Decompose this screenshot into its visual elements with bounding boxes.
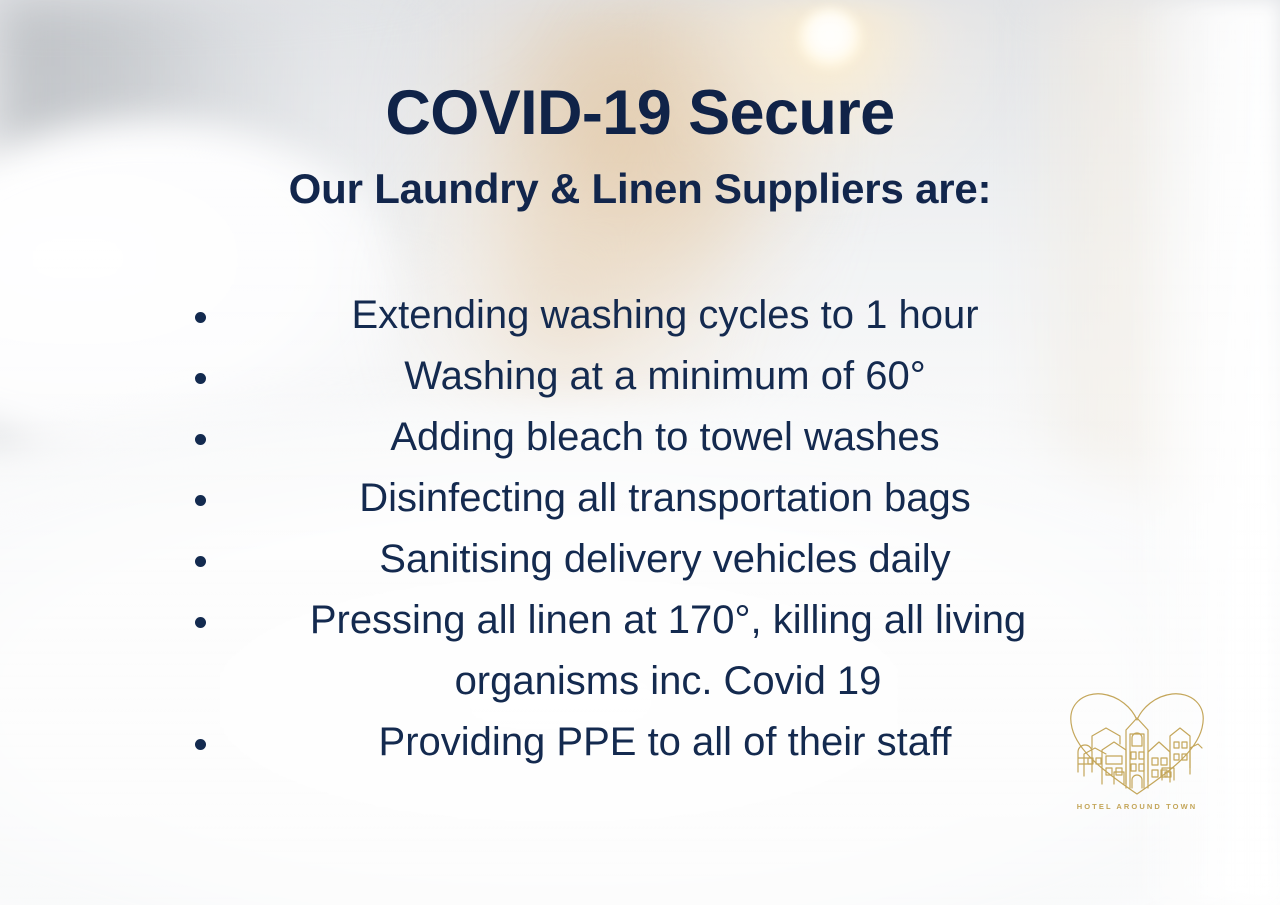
- list-item-label: Washing at a minimum of 60°: [145, 346, 1135, 407]
- list-item: Extending washing cycles to 1 hour: [0, 285, 1280, 346]
- poster-content: COVID-19 Secure Our Laundry & Linen Supp…: [0, 0, 1280, 905]
- list-item-label: Disinfecting all transportation bags: [145, 468, 1135, 529]
- list-item: Disinfecting all transportation bags: [0, 468, 1280, 529]
- list-item: Washing at a minimum of 60°: [0, 346, 1280, 407]
- list-item-label: Extending washing cycles to 1 hour: [145, 285, 1135, 346]
- page-title: COVID-19 Secure: [0, 82, 1280, 145]
- covid-secure-poster: COVID-19 Secure Our Laundry & Linen Supp…: [0, 0, 1280, 905]
- heart-townscape-icon: [1062, 688, 1212, 800]
- bullet-dot-icon: [195, 556, 206, 567]
- bullet-dot-icon: [195, 617, 206, 628]
- list-item-label: Sanitising delivery vehicles daily: [145, 529, 1135, 590]
- bullet-dot-icon: [195, 434, 206, 445]
- list-item-label: Providing PPE to all of their staff: [145, 712, 1135, 773]
- bullet-dot-icon: [195, 495, 206, 506]
- list-item-label: Pressing all linen at 170°, killing all …: [162, 590, 1118, 712]
- page-subtitle: Our Laundry & Linen Suppliers are:: [0, 168, 1280, 210]
- bullet-dot-icon: [195, 312, 206, 323]
- list-item: Adding bleach to towel washes: [0, 407, 1280, 468]
- bullet-dot-icon: [195, 373, 206, 384]
- list-item-label: Adding bleach to towel washes: [145, 407, 1135, 468]
- list-item: Sanitising delivery vehicles daily: [0, 529, 1280, 590]
- brand-logo-label: HOTEL AROUND TOWN: [1062, 802, 1212, 811]
- bullet-dot-icon: [195, 739, 206, 750]
- brand-logo: HOTEL AROUND TOWN: [1062, 688, 1212, 828]
